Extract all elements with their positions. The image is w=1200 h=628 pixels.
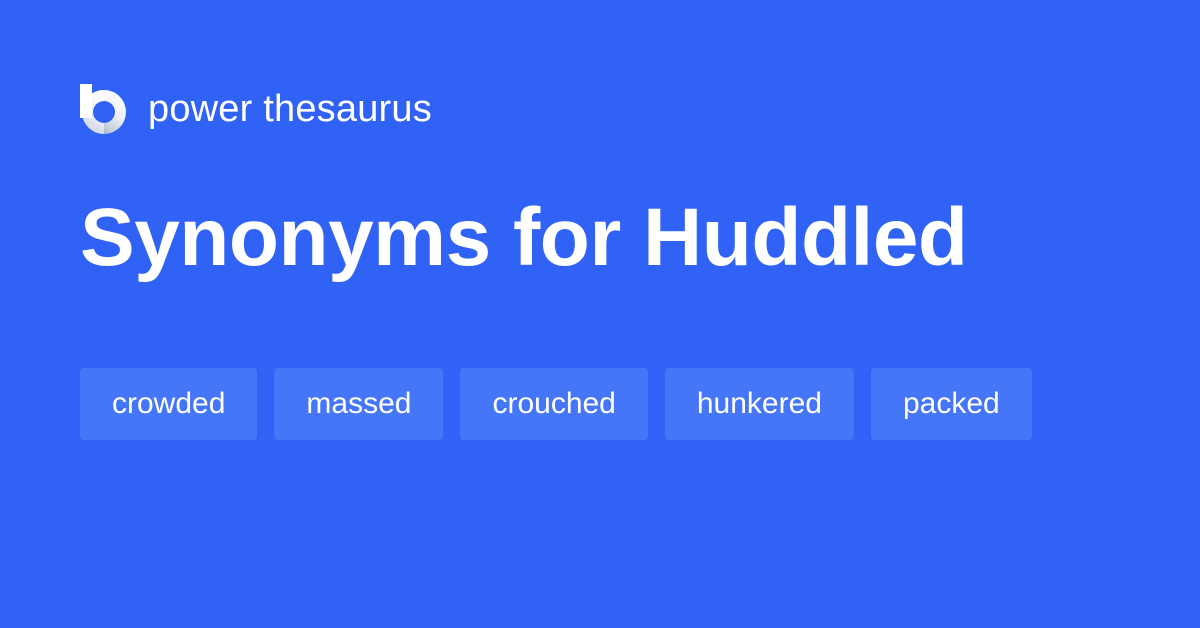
brand-lockup[interactable]: power thesaurus [80, 84, 432, 134]
power-thesaurus-b-logo-icon [80, 84, 126, 134]
synonym-chip[interactable]: hunkered [665, 368, 854, 440]
synonym-chip[interactable]: crouched [460, 368, 647, 440]
page-title: Synonyms for Huddled [80, 196, 1120, 280]
og-card: power thesaurus Synonyms for Huddled cro… [0, 0, 1200, 628]
synonym-chip[interactable]: crowded [80, 368, 257, 440]
synonym-chip-list: crowded massed crouched hunkered packed [80, 368, 1140, 440]
synonym-chip[interactable]: massed [274, 368, 443, 440]
synonym-chip[interactable]: packed [871, 368, 1032, 440]
brand-name: power thesaurus [148, 90, 432, 128]
